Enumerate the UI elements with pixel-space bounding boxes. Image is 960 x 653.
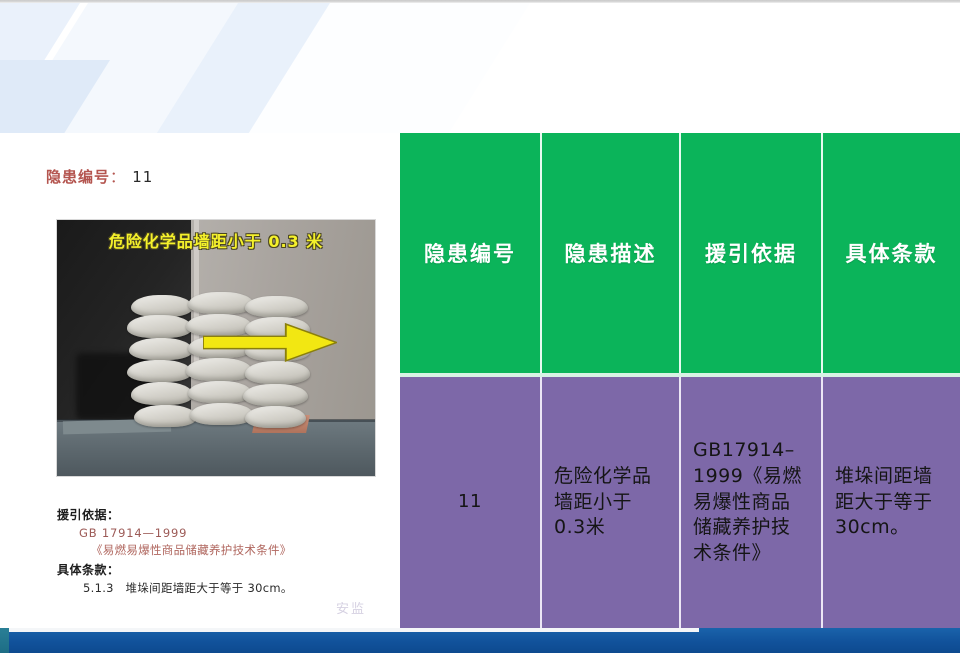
photo-sack	[129, 338, 194, 360]
citation-basis-heading: 援引依据：	[57, 508, 397, 523]
photo-sack	[127, 360, 192, 382]
citation-standard-code: GB 17914—1999	[79, 526, 397, 541]
hazard-id-separator: ：	[110, 168, 126, 186]
table-cell-hazard-number: 11	[400, 377, 542, 628]
table-cell-cited-basis: GB17914– 1999《易燃 易爆性商品 储藏养护技 术条件》	[681, 377, 823, 628]
right-arrow-icon	[203, 322, 337, 363]
table-header-row: 隐患编号 隐患描述 援引依据 具体条款	[400, 133, 960, 373]
photo-sack	[245, 296, 308, 317]
table-header-cell-hazard-description: 隐患描述	[542, 133, 681, 373]
photo-sack	[188, 381, 253, 403]
citation-clause-heading: 具体条款：	[57, 563, 397, 578]
bottom-bar-notch	[9, 628, 699, 632]
decorative-top-band	[0, 0, 960, 133]
bottom-accent-bar-left-cap	[0, 628, 9, 653]
hazard-id-value: 11	[132, 168, 153, 186]
photo-sack	[127, 315, 192, 337]
table-header-cell-cited-basis: 援引依据	[681, 133, 823, 373]
photo-caption: 危险化学品墙距小于 0.3 米	[57, 228, 375, 252]
citation-block: 援引依据： GB 17914—1999 《易燃易爆性商品储藏养护技术条件》 具体…	[57, 508, 397, 596]
table-header-cell-hazard-number: 隐患编号	[400, 133, 542, 373]
citation-clause-text: 5.1.3 堆垛间距墙距大于等于 30cm。	[83, 581, 397, 596]
cell-value: 堆垛间距墙 距大于等于 30cm。	[835, 464, 933, 541]
photo-sack	[188, 292, 254, 314]
photo-sack	[131, 295, 194, 317]
hazard-table: 隐患编号 隐患描述 援引依据 具体条款 11 危险化学品 墙距小于 0.3米 G…	[400, 133, 960, 628]
photo-bag-stack	[127, 292, 311, 440]
citation-standard-title: 《易燃易爆性商品储藏养护技术条件》	[91, 543, 397, 558]
hazard-id-line: 隐患编号： 11	[46, 166, 153, 187]
watermark-text: 安监	[336, 598, 366, 617]
photo-sack	[245, 361, 310, 383]
photo-sack	[134, 405, 197, 427]
cell-value: GB17914– 1999《易燃 易爆性商品 储藏养护技 术条件》	[693, 438, 802, 566]
table-cell-specific-clause: 堆垛间距墙 距大于等于 30cm。	[823, 377, 960, 628]
cell-value: 危险化学品 墙距小于 0.3米	[554, 464, 652, 541]
slide-canvas: 隐患编号： 11	[0, 0, 960, 653]
photo-sack	[131, 382, 194, 404]
table-cell-hazard-description: 危险化学品 墙距小于 0.3米	[542, 377, 681, 628]
table-header-cell-specific-clause: 具体条款	[823, 133, 960, 373]
photo-sack	[243, 384, 308, 406]
hazard-photo: 危险化学品墙距小于 0.3 米	[57, 220, 375, 476]
photo-sack	[190, 403, 255, 425]
photo-sack	[245, 406, 306, 428]
hazard-id-label: 隐患编号	[46, 168, 110, 186]
cell-value: 11	[458, 490, 482, 514]
table-row: 11 危险化学品 墙距小于 0.3米 GB17914– 1999《易燃 易爆性商…	[400, 373, 960, 628]
